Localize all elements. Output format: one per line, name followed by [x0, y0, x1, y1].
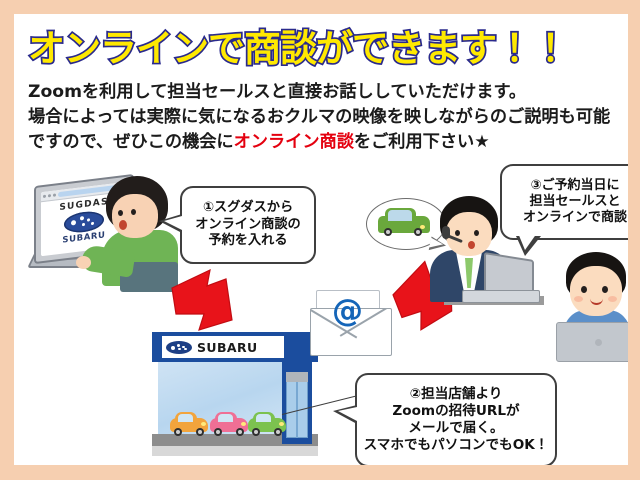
orange-car: [170, 412, 208, 436]
intro-paragraph: Zoomを利用して担当セールスと直接お話ししていただけます。 場合によっては実際…: [28, 80, 628, 155]
person-face: [112, 194, 158, 238]
browser-dot-icon: [53, 193, 56, 196]
illustration-customer-at-laptop: SUGDAS SUBARU: [32, 174, 178, 296]
callout-step-3: ③ご予約当日に 担当セールスと オンラインで商談: [500, 164, 628, 240]
intro-line-3: ですので、ぜひこの機会にオンライン商談をご利用下さい★: [28, 130, 628, 155]
illustration-salesperson: [366, 196, 516, 306]
intro-line-2-text: 場合によっては実際に気になるおクルマの映像を映しながらのご説明も可能: [28, 107, 610, 127]
person-hand: [76, 256, 91, 269]
sales-face: [446, 212, 492, 256]
shop-pavement: [152, 446, 318, 456]
online-shodan-highlight: オンライン商談: [234, 132, 354, 152]
customer-laptop: [556, 322, 628, 362]
callout-step-3-line-3: オンラインで商談: [502, 210, 628, 226]
shop-sign-text: SUBARU: [197, 340, 258, 355]
sales-laptop-base: [462, 290, 540, 303]
callout-step-1: ①スグダスから オンライン商談の 予約を入れる: [180, 186, 316, 264]
callout-step-2: ②担当店舗より Zoomの招待URLが メールで届く。 スマホでもパソコンでもO…: [355, 373, 557, 465]
shop-sign: SUBARU: [162, 336, 284, 358]
callout-step-2-line-1: ②担当店舗より: [357, 386, 555, 403]
customer-face: [570, 266, 622, 316]
intro-line-1: Zoomを利用して担当セールスと直接お話ししていただけます。: [28, 80, 628, 105]
callout-step-2-line-4: スマホでもパソコンでもOK！: [357, 437, 555, 454]
intro-line-2: 場合によっては実際に気になるおクルマの映像を映しながらのご説明も可能: [28, 105, 628, 130]
browser-dot-icon: [48, 194, 51, 197]
callout-tail-fill: [164, 216, 182, 230]
callout-step-2-line-2: Zoomの招待URLが: [357, 403, 555, 420]
callout-tail-fill: [518, 233, 537, 250]
intro-line-3-text-b: をご利用下さい★: [354, 132, 490, 152]
callout-step-1-line-3: 予約を入れる: [182, 233, 314, 249]
shop-door-split: [296, 376, 298, 438]
flyer-content-frame: オンラインで商談ができます！！ Zoomを利用して担当セールスと直接お話ししてい…: [14, 14, 628, 465]
flyer-page: オンラインで商談ができます！！ Zoomを利用して担当セールスと直接お話ししてい…: [0, 0, 640, 480]
green-car: [248, 412, 286, 436]
illustration-dealership: SUBARU: [152, 332, 318, 464]
at-symbol-icon: @: [332, 296, 363, 327]
callout-step-3-line-2: 担当セールスと: [502, 194, 628, 210]
subaru-logo-icon: [166, 341, 192, 354]
callout-step-1-line-1: ①スグダスから: [182, 200, 314, 216]
callout-tail-fill: [338, 407, 357, 421]
intro-line-1-text: Zoomを利用して担当セールスと直接お話ししていただけます。: [28, 82, 526, 102]
callout-step-2-line-3: メールで届く。: [357, 420, 555, 437]
callout-step-3-line-1: ③ご予約当日に: [502, 178, 628, 194]
shop-door-header: [286, 372, 308, 382]
browser-dot-icon: [43, 195, 46, 198]
thought-green-car: [378, 208, 430, 238]
arrow-step1-to-step2: [166, 264, 244, 336]
callout-step-1-line-2: オンライン商談の: [182, 217, 314, 233]
intro-line-3-text-a: ですので、ぜひこの機会に: [28, 132, 234, 152]
illustration-end-customer: [552, 252, 628, 364]
pink-car: [210, 412, 248, 436]
page-title: オンラインで商談ができます！！: [28, 30, 618, 67]
